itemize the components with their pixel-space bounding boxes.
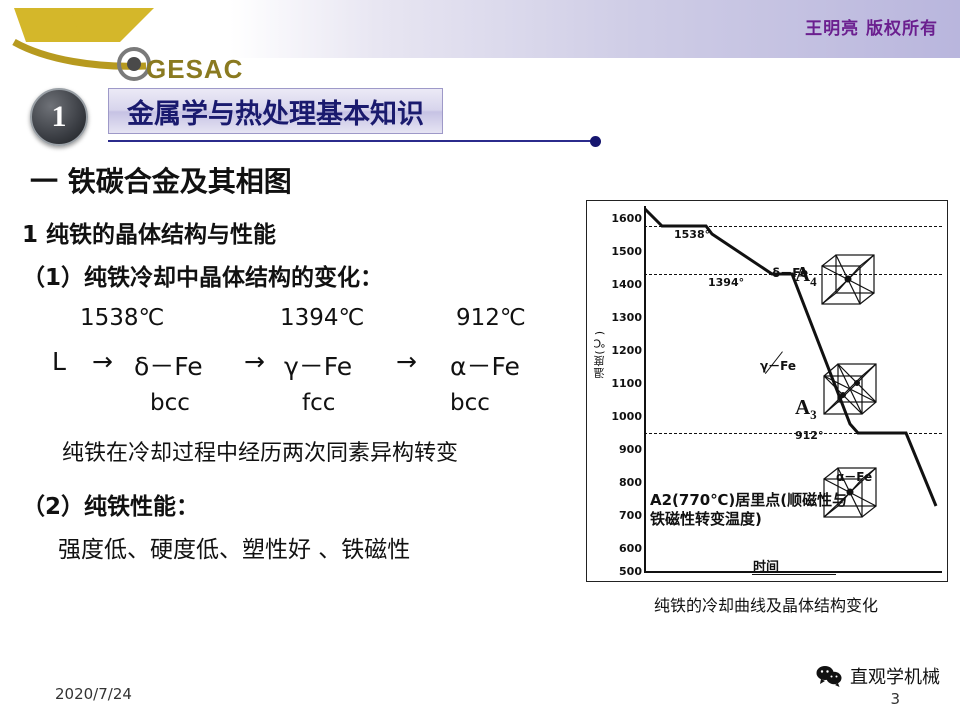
title-underline: [108, 140, 595, 142]
y-tick-1100: 1100: [608, 377, 642, 390]
sub-heading-1: 1 纯铁的晶体结构与性能: [22, 215, 276, 249]
gesac-logo: GESAC: [6, 2, 246, 82]
y-tick-1000: 1000: [608, 410, 642, 423]
temp-912: 912℃: [456, 305, 526, 331]
struct-fcc: fcc: [302, 390, 335, 416]
annotation-A4: A4: [795, 262, 817, 290]
arrow-1: →: [92, 347, 113, 376]
y-axis-label: 温度(℃): [592, 330, 608, 379]
phase-L: L: [52, 347, 66, 376]
y-tick-1300: 1300: [608, 311, 642, 324]
x-axis-label-underline: [752, 574, 836, 575]
y-tick-1400: 1400: [608, 278, 642, 291]
arrow-3: →: [396, 347, 417, 376]
page-title: 金属学与热处理基本知识: [127, 92, 424, 131]
phase-gamma: γ－Fe: [284, 347, 352, 383]
x-axis-label: 时间: [586, 556, 946, 575]
wechat-badge: 直观学机械: [816, 663, 940, 689]
annotation-1394: 1394°: [708, 276, 744, 289]
title-end-dot: [590, 136, 601, 147]
logo-text: GESAC: [146, 54, 243, 85]
copyright-text: 王明亮 版权所有: [805, 14, 938, 39]
struct-bcc-2: bcc: [450, 390, 490, 416]
y-tick-700: 700: [608, 509, 642, 522]
item-1-label: （1）纯铁冷却中晶体结构的变化：: [22, 258, 383, 292]
fcc-cell-gamma: [820, 360, 884, 418]
section-heading: 一 铁碳合金及其相图: [30, 160, 292, 200]
annotation-A3: A3: [795, 395, 817, 423]
temp-1394: 1394℃: [280, 305, 364, 331]
properties-text: 强度低、硬度低、塑性好 、铁磁性: [58, 530, 410, 564]
phase-delta: δ－Fe: [134, 347, 203, 383]
temp-1538: 1538℃: [80, 305, 164, 331]
y-tick-900: 900: [608, 443, 642, 456]
annotation-A2-curie: A2(770℃)居里点(顺磁性与铁磁性转变温度): [650, 491, 850, 529]
y-tick-1200: 1200: [608, 344, 642, 357]
bcc-cell-delta: [818, 252, 882, 308]
struct-bcc-1: bcc: [150, 390, 190, 416]
annotation-1538: 1538°: [674, 228, 710, 241]
wechat-icon: [816, 665, 842, 687]
arrow-2: →: [244, 347, 265, 376]
y-tick-600: 600: [608, 542, 642, 555]
phase-alpha: α－Fe: [450, 347, 520, 383]
footer-date: 2020/7/24: [55, 685, 132, 703]
figure-caption: 纯铁的冷却曲线及晶体结构变化: [586, 592, 946, 616]
note-text: 纯铁在冷却过程中经历两次同素异构转变: [62, 435, 458, 467]
wechat-name: 直观学机械: [850, 663, 940, 689]
section-number-badge: 1: [30, 88, 88, 146]
section-number: 1: [32, 90, 86, 144]
y-tick-1500: 1500: [608, 245, 642, 258]
y-tick-800: 800: [608, 476, 642, 489]
annotation-912: 912°: [795, 429, 823, 442]
page-number: 3: [890, 690, 900, 708]
page-title-box: 金属学与热处理基本知识: [108, 88, 443, 134]
y-tick-1600: 1600: [608, 212, 642, 225]
annotation-alpha-fe: α－Fe: [836, 468, 872, 485]
item-2-label: （2）纯铁性能：: [22, 487, 199, 521]
